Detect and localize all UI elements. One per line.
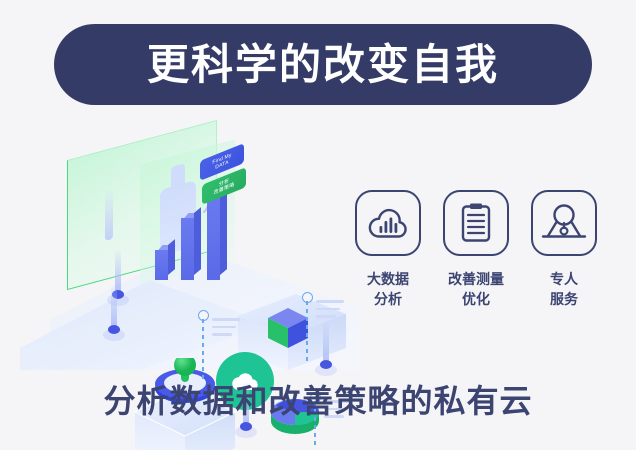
- panel-gauge-bar: [105, 189, 113, 241]
- poster-canvas: 更科学的改变自我: [0, 0, 636, 450]
- feature-item-dedicated-service[interactable]: 专人 服务: [528, 190, 600, 310]
- annotation-pin-right-top: [302, 292, 313, 303]
- tagline-text: 分析数据和改善策略的私有云: [0, 385, 636, 417]
- page-title: 更科学的改变自我: [147, 44, 499, 86]
- isometric-cube-icon: [265, 306, 311, 352]
- feature-list: 大数据 分析 改善测量 优化: [352, 190, 600, 310]
- feature-item-big-data-analysis[interactable]: 大数据 分析: [352, 190, 424, 310]
- floor-pin-left-lower: [106, 285, 122, 343]
- isometric-illustration: Find My DATA 分析 改善策略: [20, 120, 360, 370]
- feature-item-improvement-measurement[interactable]: 改善测量 优化: [440, 190, 512, 310]
- floor-pin-right: [318, 320, 334, 378]
- header-banner-pill: 更科学的改变自我: [54, 24, 592, 105]
- clipboard-checklist-icon: [443, 190, 509, 256]
- feature-label: 专人 服务: [550, 270, 578, 310]
- service-person-icon: [531, 190, 597, 256]
- cloud-bar-chart-icon: [355, 190, 421, 256]
- feature-label: 大数据 分析: [367, 270, 409, 310]
- annotation-pin-upper: [198, 310, 209, 321]
- feature-label: 改善测量 优化: [448, 270, 504, 310]
